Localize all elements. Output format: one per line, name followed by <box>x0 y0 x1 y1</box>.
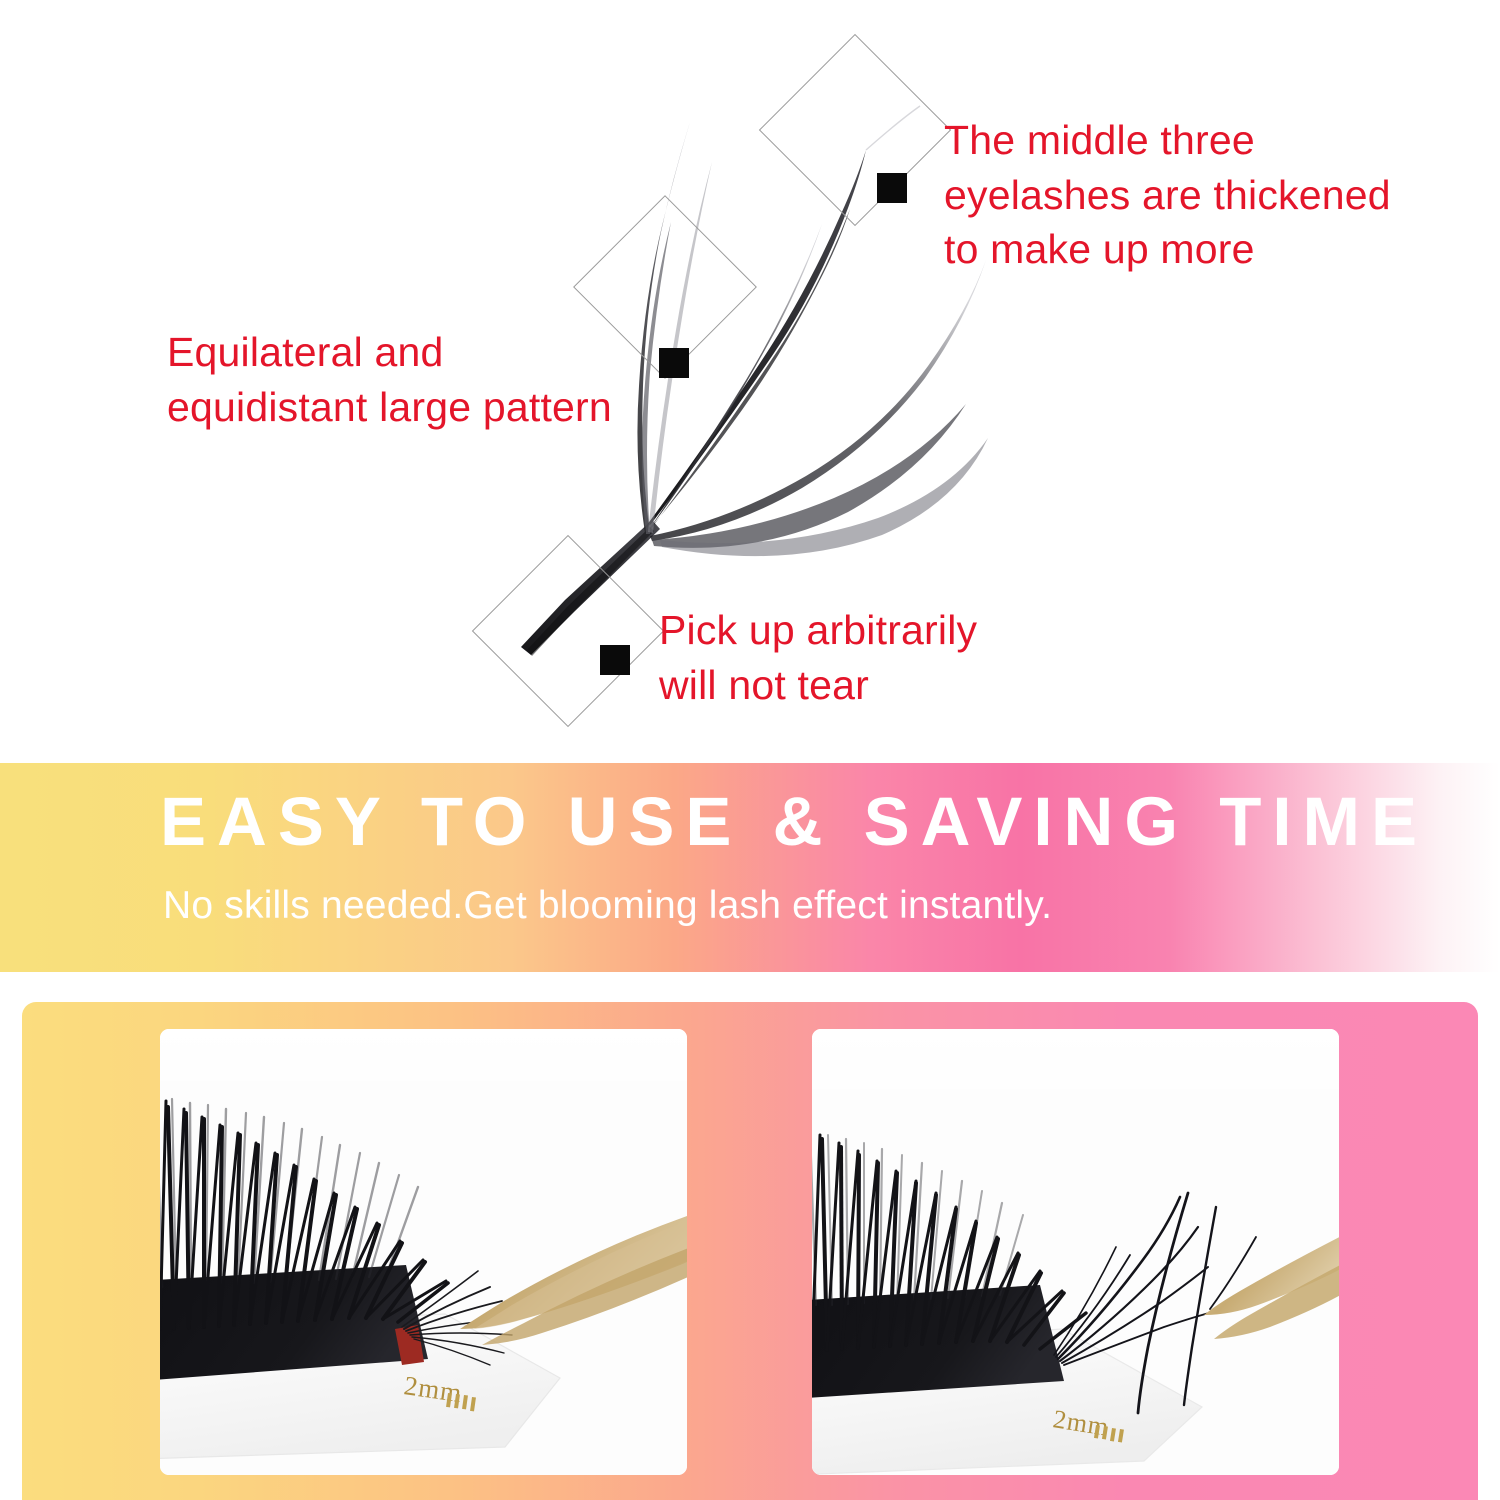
marker-dot-top <box>877 173 907 203</box>
easy-to-use-banner: EASY TO USE & SAVING TIME No skills need… <box>0 763 1500 972</box>
product-infographic-page: The middle three eyelashes are thickened… <box>0 0 1500 1500</box>
callout-equilateral-equidistant: Equilateral and equidistant large patter… <box>167 325 612 434</box>
marker-dot-bottom <box>600 645 630 675</box>
banner-headline: EASY TO USE & SAVING TIME <box>160 782 1428 861</box>
photo-lash-tray-tweezers-left: 2mm <box>160 1029 687 1475</box>
photo-lash-tray-tweezers-right: 2mm <box>812 1029 1339 1475</box>
callout-pick-up-arbitrarily: Pick up arbitrarily will not tear <box>659 603 977 712</box>
features-diagram-section: The middle three eyelashes are thickened… <box>0 0 1500 763</box>
marker-dot-middle <box>659 348 689 378</box>
callout-middle-three-thickened: The middle three eyelashes are thickened… <box>944 113 1391 277</box>
lash-tray-photo-left: 2mm <box>160 1029 687 1475</box>
banner-subheadline: No skills needed.Get blooming lash effec… <box>163 884 1052 928</box>
product-photo-gallery-panel: 2mm <box>22 1002 1478 1500</box>
section-spacer <box>0 972 1500 1003</box>
lash-tray-photo-right: 2mm <box>812 1029 1339 1475</box>
